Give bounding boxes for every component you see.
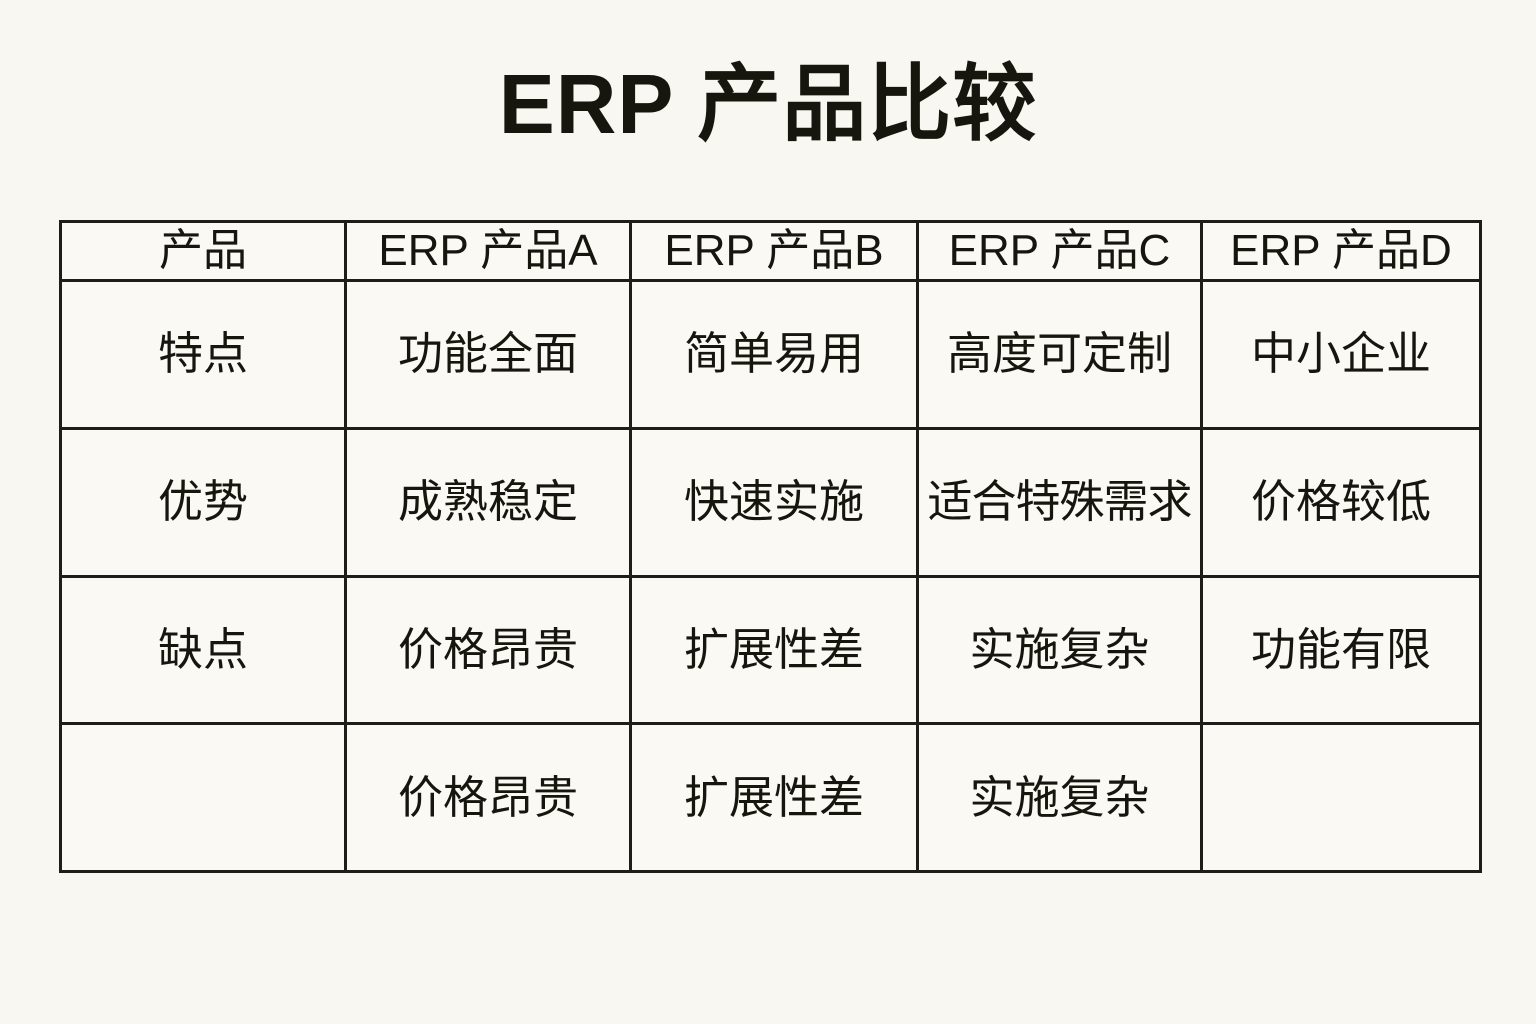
cell-advantages-product-c: 适合特殊需求 xyxy=(918,428,1202,576)
row-label-features: 特点 xyxy=(61,281,346,429)
cell-features-product-d: 中小企业 xyxy=(1202,281,1481,429)
comparison-slide: ERP 产品比较 产品 ERP 产品A ERP 产品B ERP 产品C ERP … xyxy=(0,0,1536,1024)
column-header-product-a: ERP 产品A xyxy=(346,222,631,281)
row-label-advantages: 优势 xyxy=(61,428,346,576)
cell-extra-product-a: 价格昂贵 xyxy=(346,724,631,872)
column-header-product: 产品 xyxy=(61,222,346,281)
cell-advantages-product-b: 快速实施 xyxy=(631,428,918,576)
table-row: 缺点 价格昂贵 扩展性差 实施复杂 功能有限 xyxy=(61,576,1481,724)
table-body: 特点 功能全面 简单易用 高度可定制 中小企业 优势 成熟稳定 快速实施 适合特… xyxy=(61,281,1481,872)
column-header-product-c: ERP 产品C xyxy=(918,222,1202,281)
row-label-disadvantages: 缺点 xyxy=(61,576,346,724)
table-header-row: 产品 ERP 产品A ERP 产品B ERP 产品C ERP 产品D xyxy=(61,222,1481,281)
table-row: 特点 功能全面 简单易用 高度可定制 中小企业 xyxy=(61,281,1481,429)
cell-extra-product-c: 实施复杂 xyxy=(918,724,1202,872)
cell-features-product-b: 简单易用 xyxy=(631,281,918,429)
cell-advantages-product-d: 价格较低 xyxy=(1202,428,1481,576)
erp-product-comparison-table: 产品 ERP 产品A ERP 产品B ERP 产品C ERP 产品D 特点 功能… xyxy=(59,220,1482,873)
cell-advantages-product-a: 成熟稳定 xyxy=(346,428,631,576)
table-header: 产品 ERP 产品A ERP 产品B ERP 产品C ERP 产品D xyxy=(61,222,1481,281)
table-row: 价格昂贵 扩展性差 实施复杂 xyxy=(61,724,1481,872)
cell-disadvantages-product-c: 实施复杂 xyxy=(918,576,1202,724)
column-header-product-d: ERP 产品D xyxy=(1202,222,1481,281)
cell-extra-product-b: 扩展性差 xyxy=(631,724,918,872)
cell-disadvantages-product-d: 功能有限 xyxy=(1202,576,1481,724)
cell-features-product-c: 高度可定制 xyxy=(918,281,1202,429)
column-header-product-b: ERP 产品B xyxy=(631,222,918,281)
row-label-unlabeled xyxy=(61,724,346,872)
cell-features-product-a: 功能全面 xyxy=(346,281,631,429)
cell-disadvantages-product-a: 价格昂贵 xyxy=(346,576,631,724)
table-container: 产品 ERP 产品A ERP 产品B ERP 产品C ERP 产品D 特点 功能… xyxy=(59,220,1479,873)
table-row: 优势 成熟稳定 快速实施 适合特殊需求 价格较低 xyxy=(61,428,1481,576)
cell-disadvantages-product-b: 扩展性差 xyxy=(631,576,918,724)
page-title: ERP 产品比较 xyxy=(0,52,1536,156)
cell-extra-product-d xyxy=(1202,724,1481,872)
